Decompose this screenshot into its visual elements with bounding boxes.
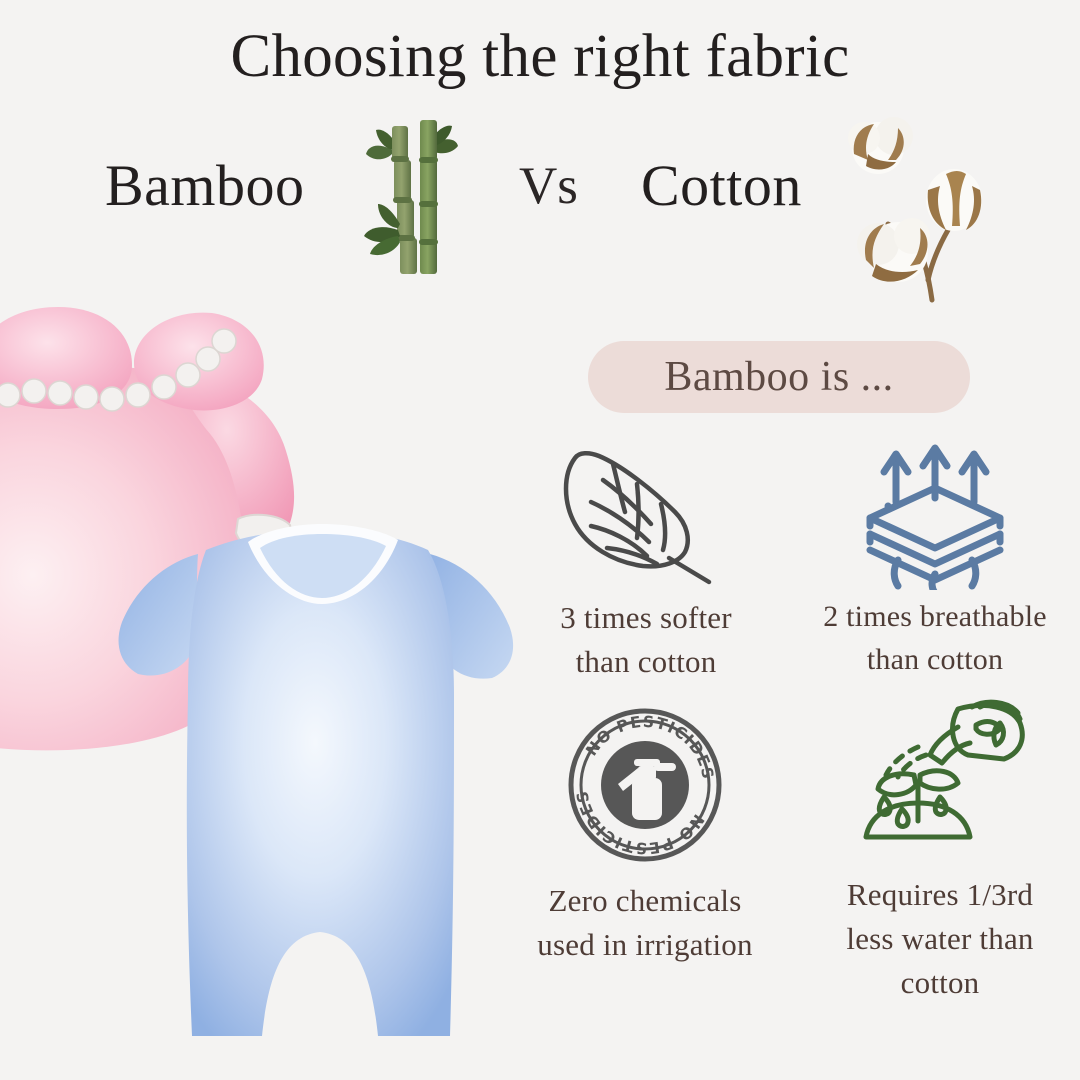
blue-baby-romper-watercolor (110, 516, 530, 1061)
comparison-label-bamboo: Bamboo (105, 152, 305, 219)
feature-softness: 3 times softer than cotton (522, 440, 770, 684)
watering-can-sprout-icon (840, 697, 1040, 865)
feature-water-saving-line3: cotton (800, 961, 1080, 1005)
page-title: Choosing the right fabric (0, 22, 1080, 92)
bamboo-stalks-illustration (352, 112, 472, 282)
feature-no-chemicals: NO PESTICIDES NO PESTICIDES Zero chemica… (520, 705, 770, 967)
comparison-label-cotton: Cotton (641, 152, 802, 219)
feather-icon (551, 440, 741, 590)
feature-breathability-icon-wrap (790, 440, 1080, 590)
feature-breathability-caption: 2 times breathable than cotton (790, 596, 1080, 681)
feature-breathability: 2 times breathable than cotton (790, 440, 1080, 681)
feature-no-chemicals-caption: Zero chemicals used in irrigation (520, 879, 770, 967)
feature-softness-line2: than cotton (522, 640, 770, 684)
feature-breathability-line1: 2 times breathable (790, 596, 1080, 639)
feature-water-saving-caption: Requires 1/3rd less water than cotton (800, 873, 1080, 1005)
feature-breathability-line2: than cotton (790, 639, 1080, 682)
cotton-branch-illustration (836, 104, 1016, 309)
feature-no-chemicals-line2: used in irrigation (520, 923, 770, 967)
bamboo-is-badge-label: Bamboo is ... (664, 353, 893, 401)
feature-water-saving: ECO-FRIENDLY Requires 1/3rd less water t… (800, 697, 1080, 1005)
bamboo-is-badge: Bamboo is ... (588, 341, 970, 413)
feature-water-saving-icon-wrap (800, 697, 1080, 865)
feature-no-chemicals-icon-wrap: NO PESTICIDES NO PESTICIDES (520, 705, 770, 865)
breathable-layers-icon (850, 440, 1020, 590)
infographic-canvas: Choosing the right fabric Bamboo Vs Cott… (0, 0, 1080, 1080)
feature-no-chemicals-line1: Zero chemicals (520, 879, 770, 923)
feature-softness-line1: 3 times softer (522, 596, 770, 640)
feature-softness-icon-wrap (522, 440, 770, 590)
feature-water-saving-line2: less water than (800, 917, 1080, 961)
feature-softness-caption: 3 times softer than cotton (522, 596, 770, 684)
no-pesticides-stamp-icon: NO PESTICIDES NO PESTICIDES (566, 706, 724, 864)
feature-water-saving-line1: Requires 1/3rd (800, 873, 1080, 917)
comparison-separator: Vs (519, 156, 578, 216)
